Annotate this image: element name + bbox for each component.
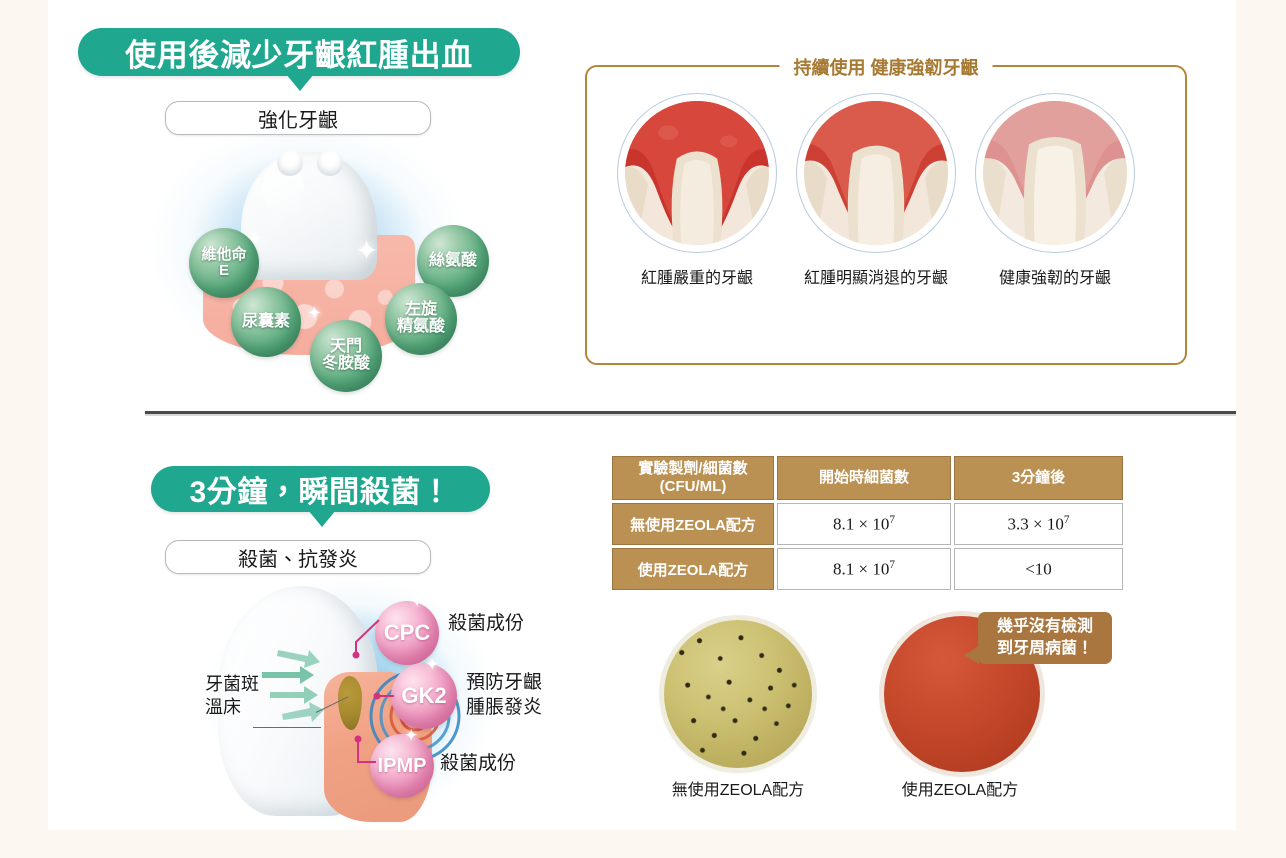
- gum-photo-healthy: [975, 93, 1135, 253]
- banner-tail-icon: [286, 74, 314, 91]
- ingredient-label: 左旋 精氨酸: [397, 302, 445, 336]
- no-pathogen-callout: 幾乎沒有檢測 到牙周病菌！: [978, 612, 1112, 664]
- gum-illustration-healthy: [983, 101, 1127, 245]
- agent-leader-lines: [332, 612, 452, 802]
- gum-progress-panel-title: 持續使用 健康強韌牙齦: [780, 54, 993, 80]
- gum-photo-caption: 紅腫嚴重的牙齦: [597, 264, 797, 288]
- petri-dish-caption-zeola: 使用ZEOLA配方: [870, 776, 1050, 800]
- cell-exponent: 7: [889, 559, 895, 571]
- gum-photo-improving: [796, 93, 956, 253]
- ingredient-label: 維他命 E: [201, 247, 246, 279]
- agent-desc-gk2: 預防牙齦 腫脹發炎: [466, 671, 542, 720]
- cell-exponent: 7: [1064, 514, 1070, 526]
- gum-photo-image: [804, 101, 948, 245]
- cell-value: <10: [1025, 559, 1052, 578]
- ingredient-label: 天門 冬胺酸: [322, 339, 370, 373]
- cell-value: 3.3 × 10: [1008, 514, 1064, 533]
- table-row: 無使用ZEOLA配方 8.1 × 107 3.3 × 107: [612, 503, 1123, 545]
- plaque-label: 牙菌斑 溫床: [205, 673, 259, 720]
- cell-value: 8.1 × 10: [833, 514, 889, 533]
- plaque-leader-line: [253, 727, 321, 728]
- bacteria-banner: 3分鐘，瞬間殺菌！: [151, 466, 490, 512]
- gum-photo-severe: [617, 93, 777, 253]
- poster-page: 使用後減少牙齦紅腫出血 強化牙齦 ✦ ✦ ✦ 維他命 E 絲氨酸 尿囊素 天門 …: [0, 0, 1286, 858]
- ingredient-bubble-allantoin: 尿囊素: [231, 287, 301, 357]
- header-main: 實驗製劑/細菌數: [614, 460, 772, 478]
- ingredient-bubble-l-arginine: 左旋 精氨酸: [385, 283, 457, 355]
- content-canvas: 使用後減少牙齦紅腫出血 強化牙齦 ✦ ✦ ✦ 維他命 E 絲氨酸 尿囊素 天門 …: [48, 0, 1236, 830]
- header-unit: (CFU/ML): [614, 478, 772, 496]
- cell-exponent: 7: [889, 514, 895, 526]
- sparkle-icon: ✦: [307, 303, 322, 324]
- ingredient-bubble-aspartic-acid: 天門 冬胺酸: [310, 320, 382, 392]
- petri-dish-caption-no-zeola: 無使用ZEOLA配方: [648, 776, 828, 800]
- table-row: 使用ZEOLA配方 8.1 × 107 <10: [612, 548, 1123, 590]
- ingredient-label: 尿囊素: [242, 314, 290, 331]
- callout-tail-icon: [964, 646, 979, 664]
- gum-illustration-severe: [625, 101, 769, 245]
- gums-banner-label: 使用後減少牙齦紅腫出血: [125, 30, 473, 75]
- ingredient-label: 絲氨酸: [429, 253, 477, 270]
- gum-photo-caption: 健康強韌的牙齦: [955, 264, 1155, 288]
- ingredient-bubble-vitamin-e: 維他命 E: [189, 228, 259, 298]
- gums-banner: 使用後減少牙齦紅腫出血: [78, 28, 520, 76]
- cell-after-zeola: <10: [954, 548, 1123, 590]
- bacteria-pill-label: 殺菌、抗發炎: [238, 543, 358, 572]
- cell-start-no-zeola: 8.1 × 107: [777, 503, 951, 545]
- cell-after-no-zeola: 3.3 × 107: [954, 503, 1123, 545]
- petri-dish-no-zeola: [664, 620, 812, 768]
- gum-photo-image: [983, 101, 1127, 245]
- table-col-header-start: 開始時細菌數: [777, 456, 951, 500]
- bacteria-banner-label: 3分鐘，瞬間殺菌！: [189, 467, 451, 511]
- agent-desc-cpc: 殺菌成份: [448, 612, 524, 637]
- sparkle-icon: ✦: [425, 655, 439, 675]
- table-col-header-sample: 實驗製劑/細菌數 (CFU/ML): [612, 456, 774, 500]
- cell-value: 8.1 × 10: [833, 559, 889, 578]
- cell-start-zeola: 8.1 × 107: [777, 548, 951, 590]
- gum-photo-image: [625, 101, 769, 245]
- callout-label: 幾乎沒有檢測 到牙周病菌！: [997, 616, 1093, 659]
- banner-tail-icon: [308, 510, 336, 527]
- table-header-row: 實驗製劑/細菌數 (CFU/ML) 開始時細菌數 3分鐘後: [612, 456, 1123, 500]
- sparkle-icon: ✦: [404, 726, 418, 746]
- row-label-zeola: 使用ZEOLA配方: [612, 548, 774, 590]
- table-col-header-after: 3分鐘後: [954, 456, 1123, 500]
- row-label-no-zeola: 無使用ZEOLA配方: [612, 503, 774, 545]
- gum-photo-caption: 紅腫明顯消退的牙齦: [776, 264, 976, 288]
- gum-progress-panel: 持續使用 健康強韌牙齦: [585, 65, 1187, 365]
- bacteria-pill: 殺菌、抗發炎: [165, 540, 431, 574]
- sparkle-icon: ✦: [410, 592, 424, 612]
- sparkle-icon: ✦: [355, 234, 378, 267]
- section-divider: [145, 411, 1236, 414]
- gum-illustration-improving: [804, 101, 948, 245]
- bacteria-count-table: 實驗製劑/細菌數 (CFU/ML) 開始時細菌數 3分鐘後 無使用ZEOLA配方…: [609, 453, 1126, 593]
- molar-cusp-notch-left: [277, 150, 303, 176]
- molar-cusp-notch-right: [317, 150, 343, 176]
